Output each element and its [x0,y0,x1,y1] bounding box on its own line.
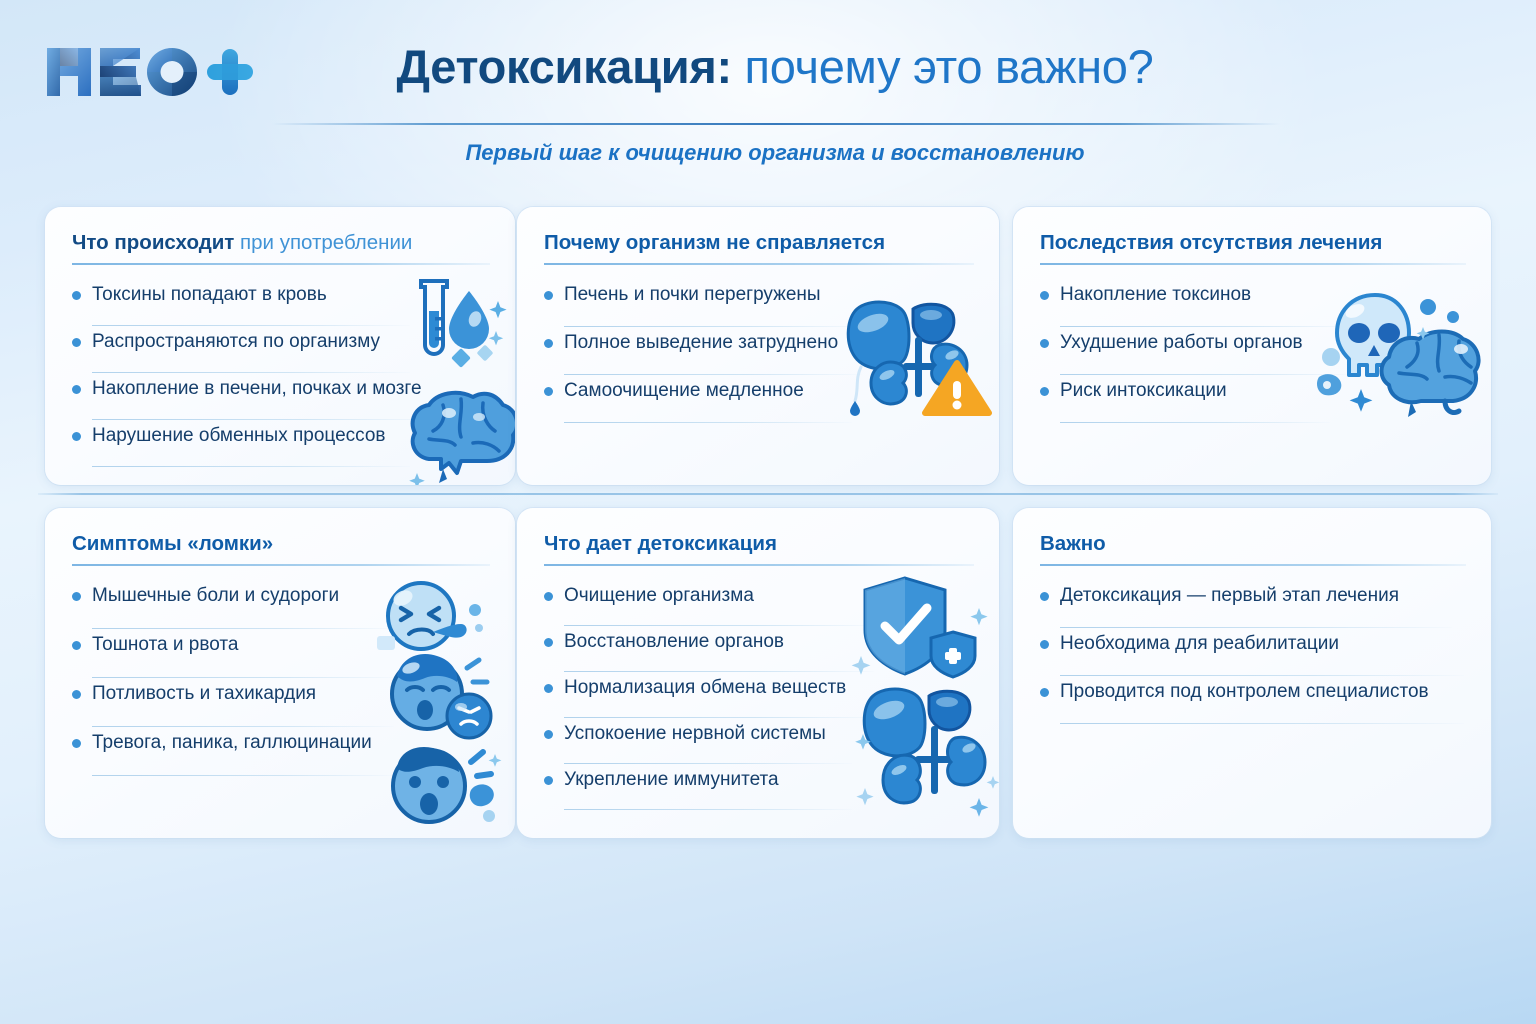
list-item-label: Детоксикация — первый этап лечения [1060,582,1399,609]
card-detox-benefits[interactable]: Что дает детоксикация Очищение организма… [517,508,999,838]
list-item[interactable]: Печень и почки перегружены [544,279,838,327]
card-item-list: Печень и почки перегружены Полное выведе… [544,279,838,423]
liver-kidney-icon [857,680,999,820]
item-divider [1060,422,1330,423]
item-divider [1060,723,1464,724]
list-item[interactable]: Тошнота и рвота [72,629,372,678]
bullet-icon [544,291,553,300]
card-heading-bold: Симптомы «ломки» [72,532,273,555]
bullet-icon [1040,291,1049,300]
item-divider [92,775,394,776]
bullet-icon [72,385,81,394]
bullet-icon [72,739,81,748]
card-why-body-fails[interactable]: Почему организм не справляется Печень и … [517,207,999,485]
list-item[interactable]: Тревога, паника, галлюцинации [72,727,372,776]
card-heading: Важно [1040,531,1467,557]
card-heading-divider [1040,263,1466,265]
list-item[interactable]: Детоксикация — первый этап лечения [1040,580,1429,628]
list-item[interactable]: Риск интоксикации [1040,375,1303,423]
bullet-icon [72,291,81,300]
list-item[interactable]: Накопление в печени, почках и мозге [72,373,422,420]
bullet-icon [72,592,81,601]
item-divider [564,809,852,810]
list-item[interactable]: Потливость и тахикардия [72,678,372,727]
card-heading-divider [544,564,974,566]
bullet-icon [1040,339,1049,348]
bullet-icon [544,387,553,396]
card-heading-soft: при употреблении [234,231,412,254]
card-heading-divider [544,263,974,265]
card-heading: Симптомы «ломки» [72,531,491,557]
list-item[interactable]: Самоочищение медленное [544,375,838,423]
list-item-label: Восстановление органов [564,628,784,655]
list-item-label: Нормализация обмена веществ [564,674,846,701]
card-heading-divider [72,564,490,566]
bullet-icon [544,592,553,601]
card-heading: Почему организм не справляется [544,230,975,256]
item-divider [92,466,410,467]
card-item-list: Очищение организма Восстановление органо… [544,580,846,810]
list-item[interactable]: Успокоение нервной системы [544,718,846,764]
list-item-label: Накопление токсинов [1060,281,1251,308]
list-item-label: Нарушение обменных процессов [92,422,386,449]
card-heading: Что происходит при употреблении [72,230,491,256]
list-item[interactable]: Мышечные боли и судороги [72,580,372,629]
list-item-label: Полное выведение затруднено [564,329,838,356]
list-item[interactable]: Накопление токсинов [1040,279,1303,327]
list-item-label: Мышечные боли и судороги [92,582,339,609]
bullet-icon [1040,640,1049,649]
card-heading-bold: Что происходит [72,231,234,254]
bullet-icon [544,339,553,348]
item-divider [564,422,852,423]
list-item[interactable]: Проводится под контролем специалистов [1040,676,1429,724]
bullet-icon [544,730,553,739]
list-item[interactable]: Ухудшение работы органов [1040,327,1303,375]
bullet-icon [544,684,553,693]
list-item[interactable]: Укрепление иммунитета [544,764,846,810]
list-item-label: Тошнота и рвота [92,631,238,658]
card-item-list: Мышечные боли и судороги Тошнота и рвота… [72,580,372,776]
skull-brain-icon [1313,285,1488,425]
card-heading-divider [1040,564,1466,566]
card-what-happens[interactable]: Что происходит при употреблении Токсины … [45,207,515,485]
list-item[interactable]: Очищение организма [544,580,846,626]
list-item-label: Проводится под контролем специалистов [1060,678,1429,705]
list-item-label: Накопление в печени, почках и мозге [92,375,422,402]
list-item-label: Потливость и тахикардия [92,680,316,707]
card-heading-bold: Что дает детоксикация [544,532,777,555]
list-item[interactable]: Восстановление органов [544,626,846,672]
sick-faces-icon [375,576,515,826]
list-item-label: Самоочищение медленное [564,377,804,404]
bullet-icon [72,338,81,347]
bullet-icon [72,641,81,650]
list-item-label: Тревога, паника, галлюцинации [92,729,372,756]
card-heading: Что дает детоксикация [544,531,975,557]
list-item[interactable]: Распространяются по организму [72,326,422,373]
bullet-icon [72,690,81,699]
list-item-label: Укрепление иммунитета [564,766,779,793]
card-heading-bold: Важно [1040,532,1106,555]
list-item-label: Необходима для реабилитации [1060,630,1339,657]
list-item-label: Распространяются по организму [92,328,380,355]
liver-kidney-warning-icon [839,285,994,420]
list-item[interactable]: Нарушение обменных процессов [72,420,422,467]
list-item[interactable]: Токсины попадают в кровь [72,279,422,326]
list-item[interactable]: Необходима для реабилитации [1040,628,1429,676]
list-item-label: Токсины попадают в кровь [92,281,327,308]
list-item[interactable]: Нормализация обмена веществ [544,672,846,718]
card-important[interactable]: Важно Детоксикация — первый этап лечения… [1013,508,1491,838]
list-item-label: Ухудшение работы органов [1060,329,1303,356]
list-item-label: Риск интоксикации [1060,377,1227,404]
bullet-icon [544,776,553,785]
card-heading-bold: Последствия отсутствия лечения [1040,231,1382,254]
bullet-icon [544,638,553,647]
bullet-icon [1040,688,1049,697]
card-item-list: Детоксикация — первый этап лечения Необх… [1040,580,1429,724]
card-grid: Что происходит при употреблении Токсины … [0,0,1536,1024]
card-item-list: Токсины попадают в кровь Распространяютс… [72,279,422,467]
card-heading-bold: Почему организм не справляется [544,231,885,254]
list-item[interactable]: Полное выведение затруднено [544,327,838,375]
card-consequences[interactable]: Последствия отсутствия лечения Накоплени… [1013,207,1491,485]
list-item-label: Печень и почки перегружены [564,281,821,308]
list-item-label: Успокоение нервной системы [564,720,826,747]
card-heading-divider [72,263,490,265]
card-withdrawal-symptoms[interactable]: Симптомы «ломки» Мышечные боли и судорог… [45,508,515,838]
list-item-label: Очищение организма [564,582,754,609]
bullet-icon [1040,592,1049,601]
bullet-icon [72,432,81,441]
card-heading: Последствия отсутствия лечения [1040,230,1467,256]
shield-check-icon [857,574,992,689]
bullet-icon [1040,387,1049,396]
card-item-list: Накопление токсинов Ухудшение работы орг… [1040,279,1303,423]
